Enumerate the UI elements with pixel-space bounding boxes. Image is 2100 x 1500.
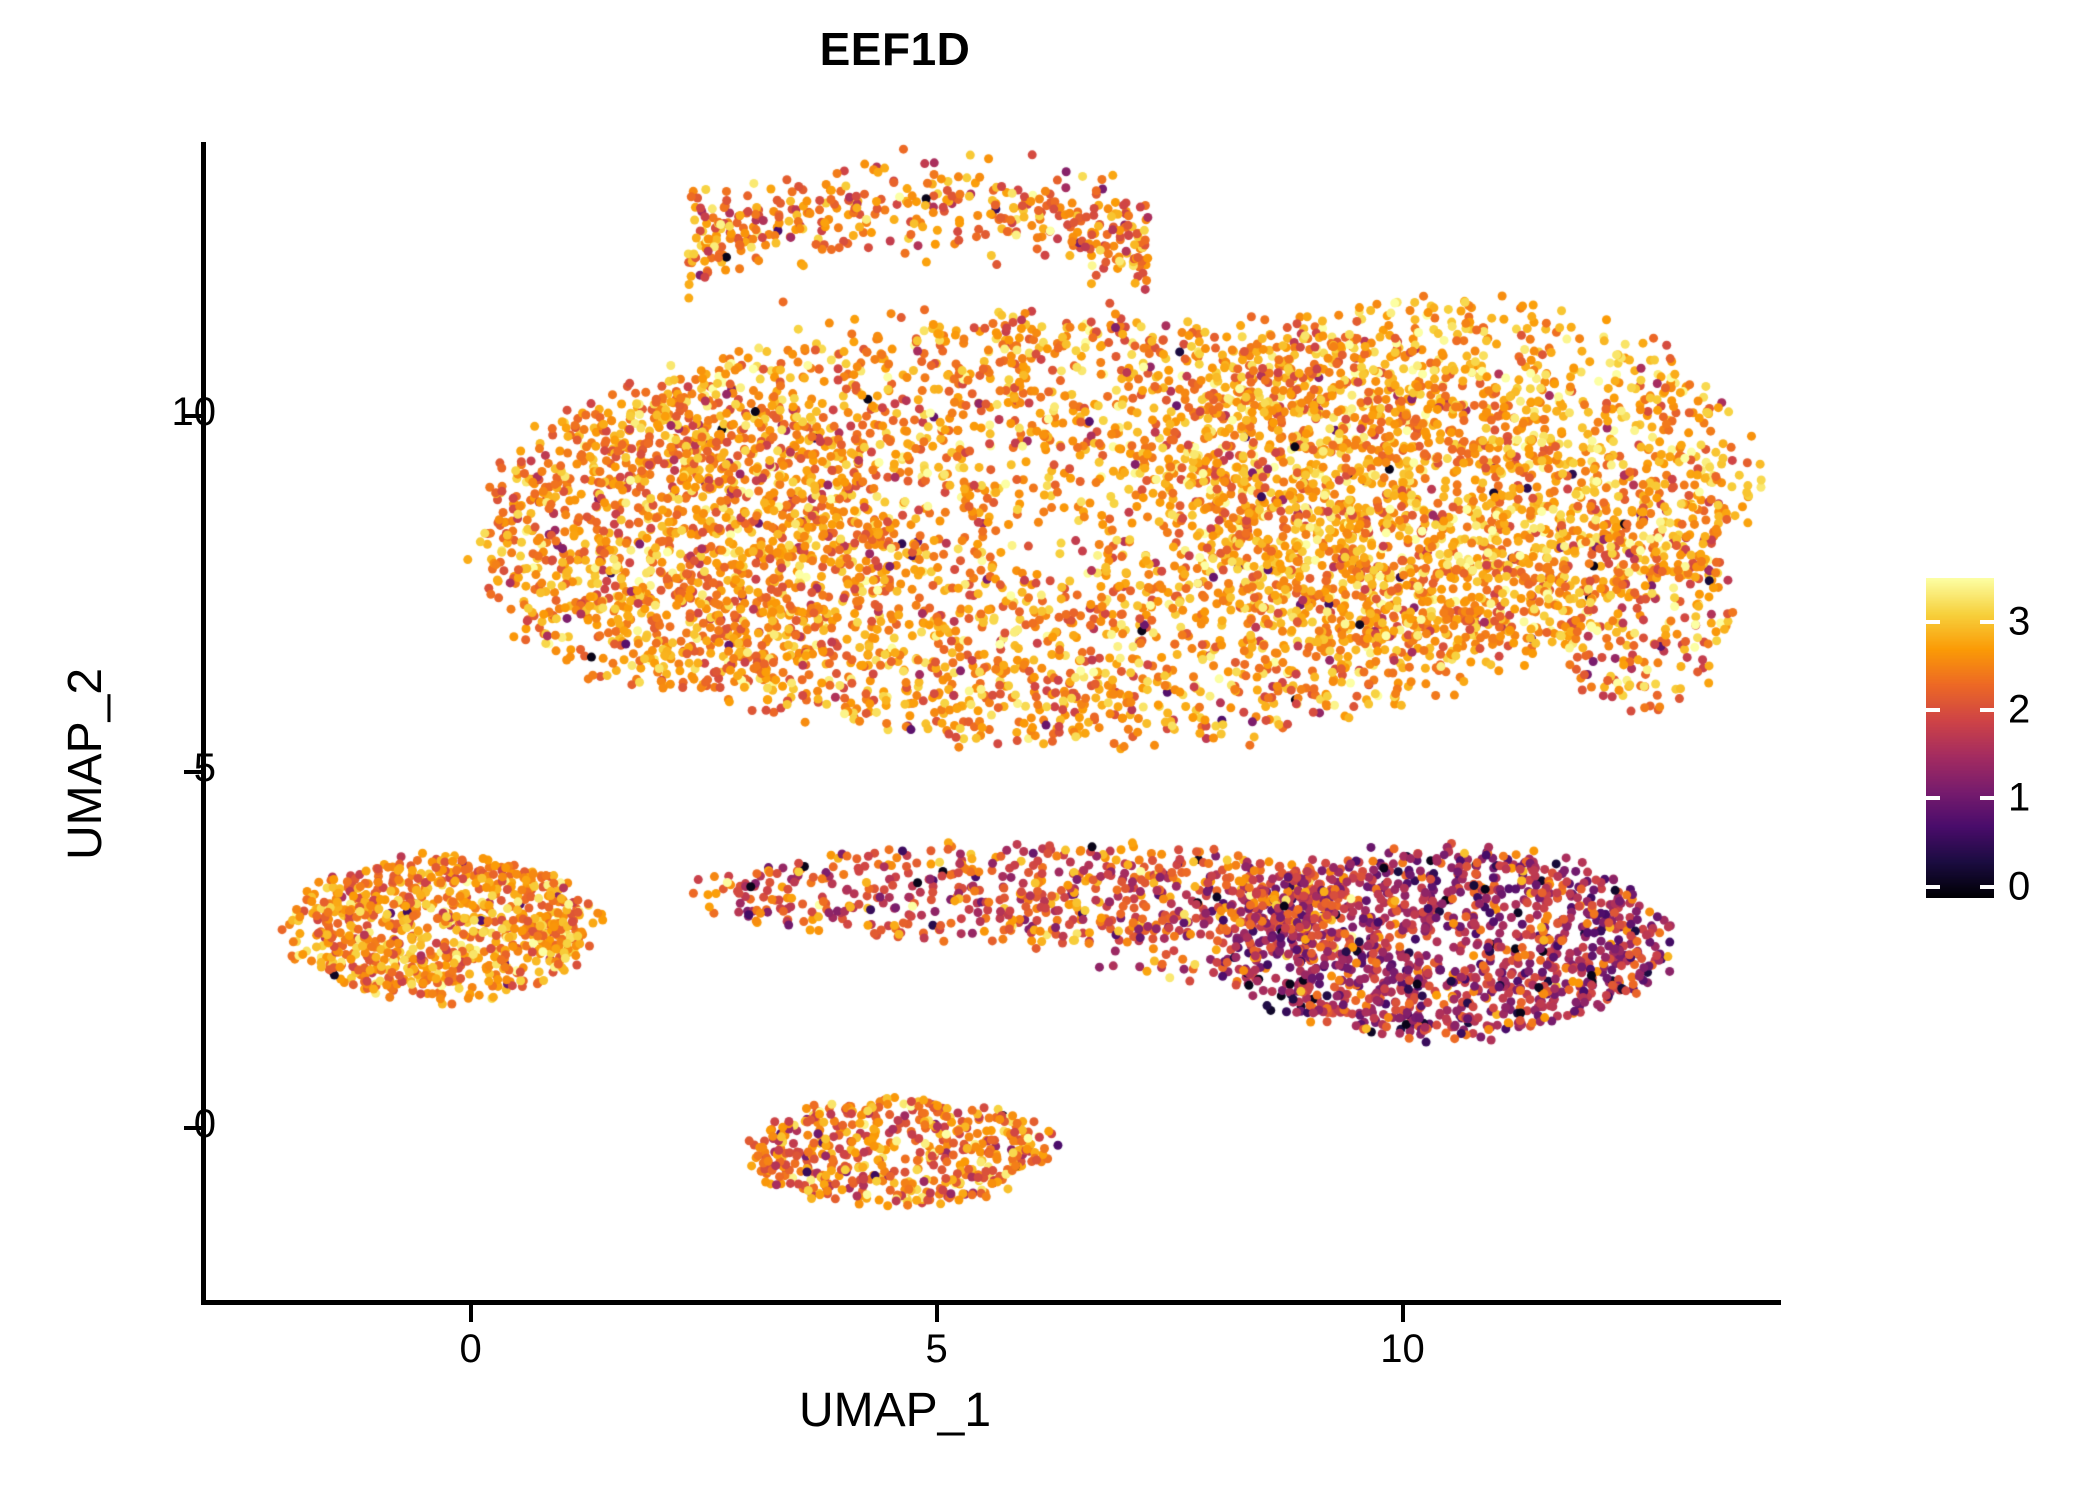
x-axis-line [201, 1300, 1781, 1305]
colorbar-tick-mark [1926, 708, 1940, 712]
colorbar-tick-mark [1980, 796, 1994, 800]
x-tick-mark [1401, 1305, 1405, 1322]
x-tick-label: 10 [1343, 1327, 1463, 1372]
colorbar-tick-mark [1980, 885, 1994, 889]
x-tick-mark [935, 1305, 939, 1322]
colorbar-tick-label: 0 [2008, 864, 2030, 909]
colorbar-tick-mark [1926, 620, 1940, 624]
colorbar-tick-label: 1 [2008, 776, 2030, 821]
x-tick-mark [469, 1305, 473, 1322]
colorbar-tick-label: 2 [2008, 688, 2030, 733]
colorbar-tick-label: 3 [2008, 600, 2030, 645]
colorbar-tick-mark [1926, 885, 1940, 889]
plot-panel [205, 142, 1780, 1302]
colorbar-tick-mark [1980, 620, 1994, 624]
plot-title: EEF1D [0, 22, 1790, 76]
x-tick-label: 0 [411, 1327, 531, 1372]
x-axis-title: UMAP_1 [0, 1383, 1790, 1438]
colorbar-gradient [1926, 578, 1994, 898]
y-tick-label: 5 [194, 746, 216, 791]
x-tick-label: 5 [877, 1327, 997, 1372]
colorbar-tick-mark [1926, 796, 1940, 800]
colorbar-tick-mark [1980, 708, 1994, 712]
umap-feature-plot: EEF1D 0510 0510 UMAP_1 UMAP_2 0123 [0, 0, 2100, 1500]
color-legend: 0123 [1926, 578, 1994, 898]
y-axis-title: UMAP_2 [58, 668, 113, 860]
y-tick-label: 10 [172, 390, 217, 435]
scatter-canvas [205, 142, 1780, 1302]
y-tick-label: 0 [194, 1102, 216, 1147]
